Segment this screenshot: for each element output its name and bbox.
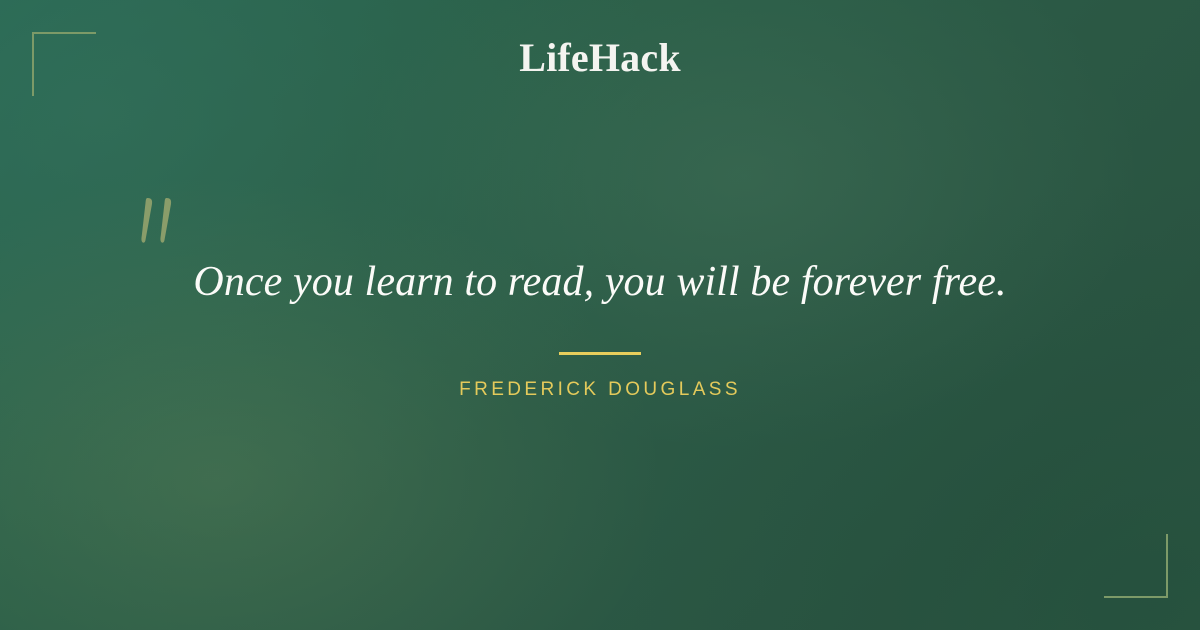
corner-bracket-bottom-right-icon [1104,534,1168,598]
quote-text: Once you learn to read, you will be fore… [100,255,1100,310]
quote-author: FREDERICK DOUGLASS [0,380,1200,399]
quote-content: Once you learn to read, you will be fore… [0,255,1200,399]
brand-logo: LifeHack [0,38,1200,78]
quote-card: LifeHack Once you learn to read, you wil… [0,0,1200,630]
double-quote-icon [131,196,187,248]
quote-divider [559,352,641,355]
